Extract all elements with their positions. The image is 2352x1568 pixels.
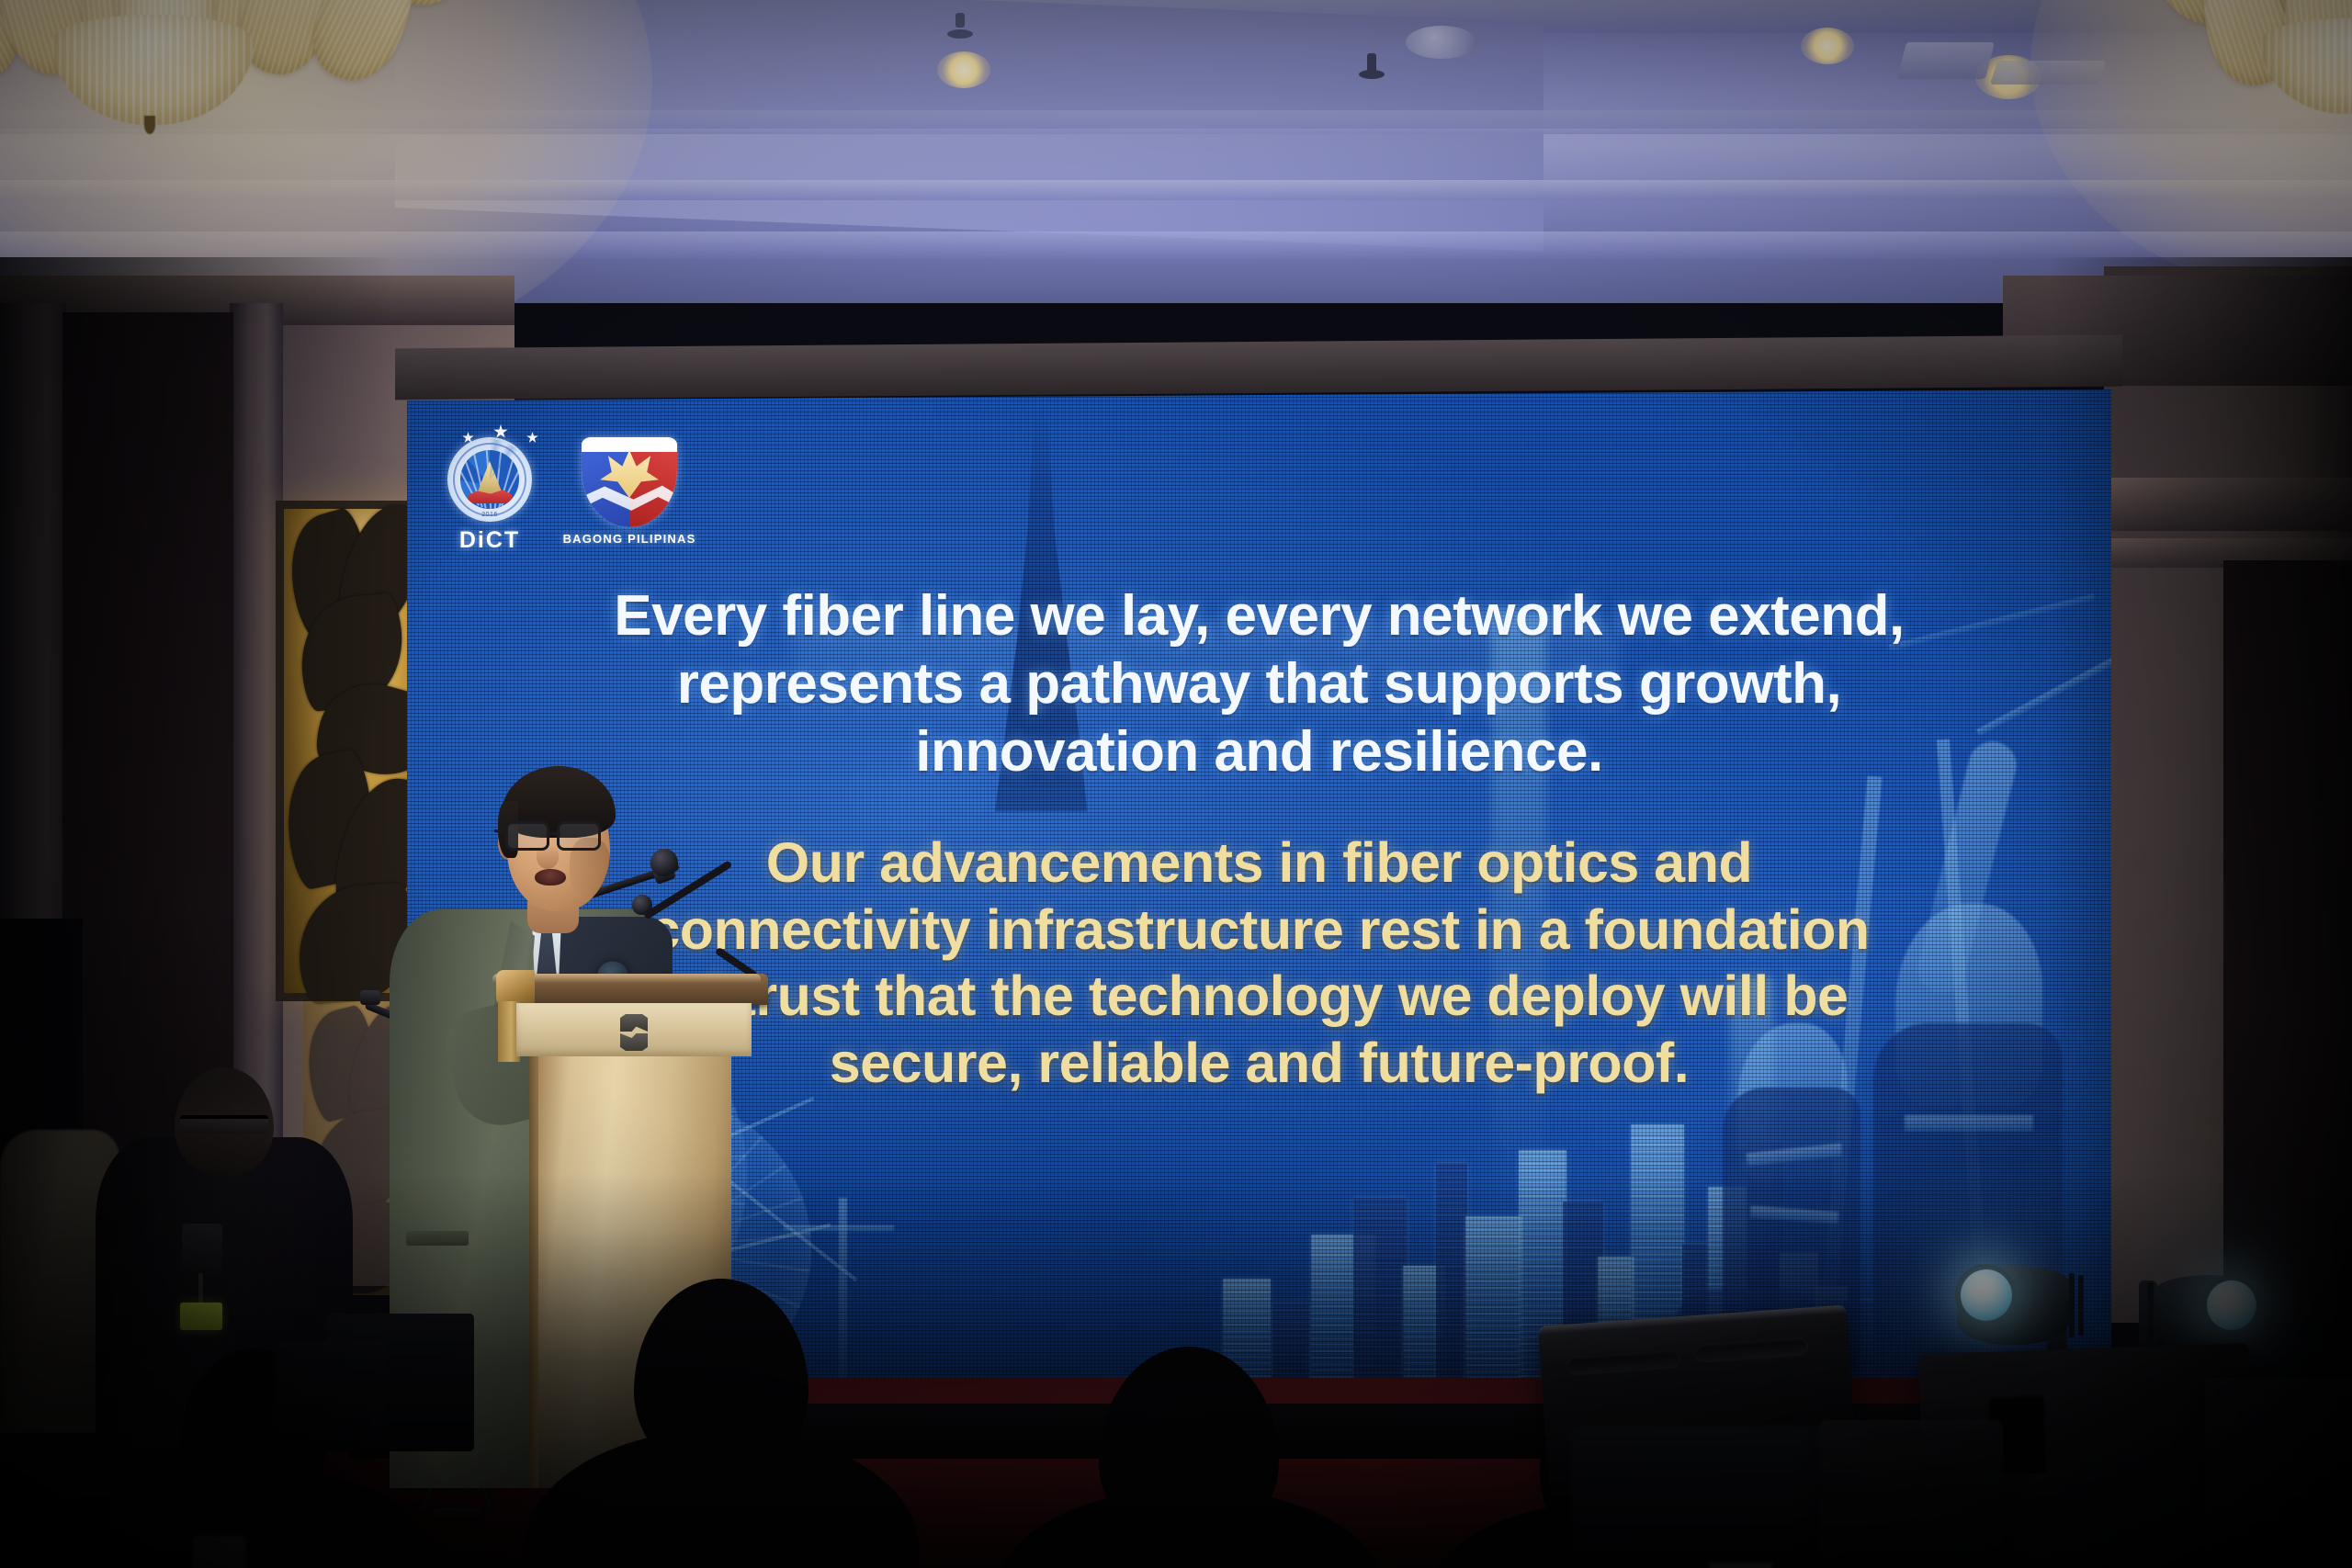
- tripod-base: [432, 1508, 481, 1519]
- chandelier-right: [2150, 0, 2352, 129]
- mic-stand-collar: [360, 990, 380, 1005]
- chandelier-left: [0, 0, 551, 211]
- crest-upper-shield: [620, 1014, 648, 1032]
- speaker-mouth: [535, 869, 566, 886]
- equipment-road-case: [1819, 1420, 2003, 1568]
- photographer-lanyard: [198, 1273, 203, 1306]
- recessed-downlight: [1801, 28, 1854, 64]
- right-doorway-shadow: [2223, 560, 2352, 1323]
- equipment-road-case: [2205, 1378, 2352, 1568]
- ceiling-rigging-hook: [955, 13, 965, 28]
- stage-photograph-scene: 2016 DiCT BAGONG PILIPINAS Every: [0, 0, 2352, 1568]
- slide-paragraph-white: Every fiber line we lay, every network w…: [543, 582, 1976, 785]
- light-heatsink-fin: [2069, 1273, 2075, 1337]
- eyeglass-lens: [505, 821, 549, 851]
- monitor-handle: [1694, 1337, 1809, 1363]
- eyeglass-lens: [557, 821, 601, 851]
- podium-crest-emblem: [620, 1014, 648, 1051]
- podium-mic-capsule: [632, 895, 652, 915]
- slide-line: represents a pathway that supports growt…: [543, 650, 1976, 718]
- crest-lower-shield: [620, 1033, 648, 1051]
- podium-desktop: [500, 974, 768, 1005]
- stage-equipment-box: [276, 1341, 386, 1451]
- screen-top-trim: [395, 335, 2122, 400]
- speaker-jacket-pocket: [406, 1231, 469, 1246]
- chandelier-bowl: [51, 15, 254, 125]
- audience-shirt-collar: [193, 1536, 246, 1568]
- photographer-phone: [182, 1224, 222, 1280]
- monitor-handle: [1566, 1349, 1680, 1376]
- chandelier-bowl: [2260, 18, 2352, 114]
- ceiling-cornice-band: [0, 231, 2352, 259]
- ceiling-air-vent: [1990, 61, 2106, 85]
- recessed-downlight: [937, 51, 990, 88]
- light-lens: [2207, 1280, 2256, 1330]
- slide-line: innovation and resilience.: [543, 718, 1976, 786]
- eyeglass-bridge: [548, 832, 560, 835]
- slide-line: Every fiber line we lay, every network w…: [543, 582, 1976, 650]
- speaker-eyeglasses: [505, 821, 614, 852]
- ceiling-rigging-hook: [1367, 53, 1376, 77]
- light-lens: [1961, 1269, 2012, 1321]
- photographer-event-badge: [180, 1303, 222, 1330]
- light-heatsink-fin: [2148, 1282, 2154, 1343]
- slide-line: connectivity infrastructure rest in a fo…: [543, 897, 1976, 964]
- light-heatsink-fin: [2078, 1275, 2084, 1336]
- slide-line: Our advancements in fiber optics and: [543, 829, 1976, 897]
- photographer-glasses-icon: [180, 1115, 268, 1134]
- right-wall-cornice: [2104, 478, 2352, 531]
- ceiling-air-vent: [1897, 42, 1995, 79]
- ceiling-speaker-grille: [1406, 26, 1477, 59]
- chandelier-finial: [144, 116, 155, 134]
